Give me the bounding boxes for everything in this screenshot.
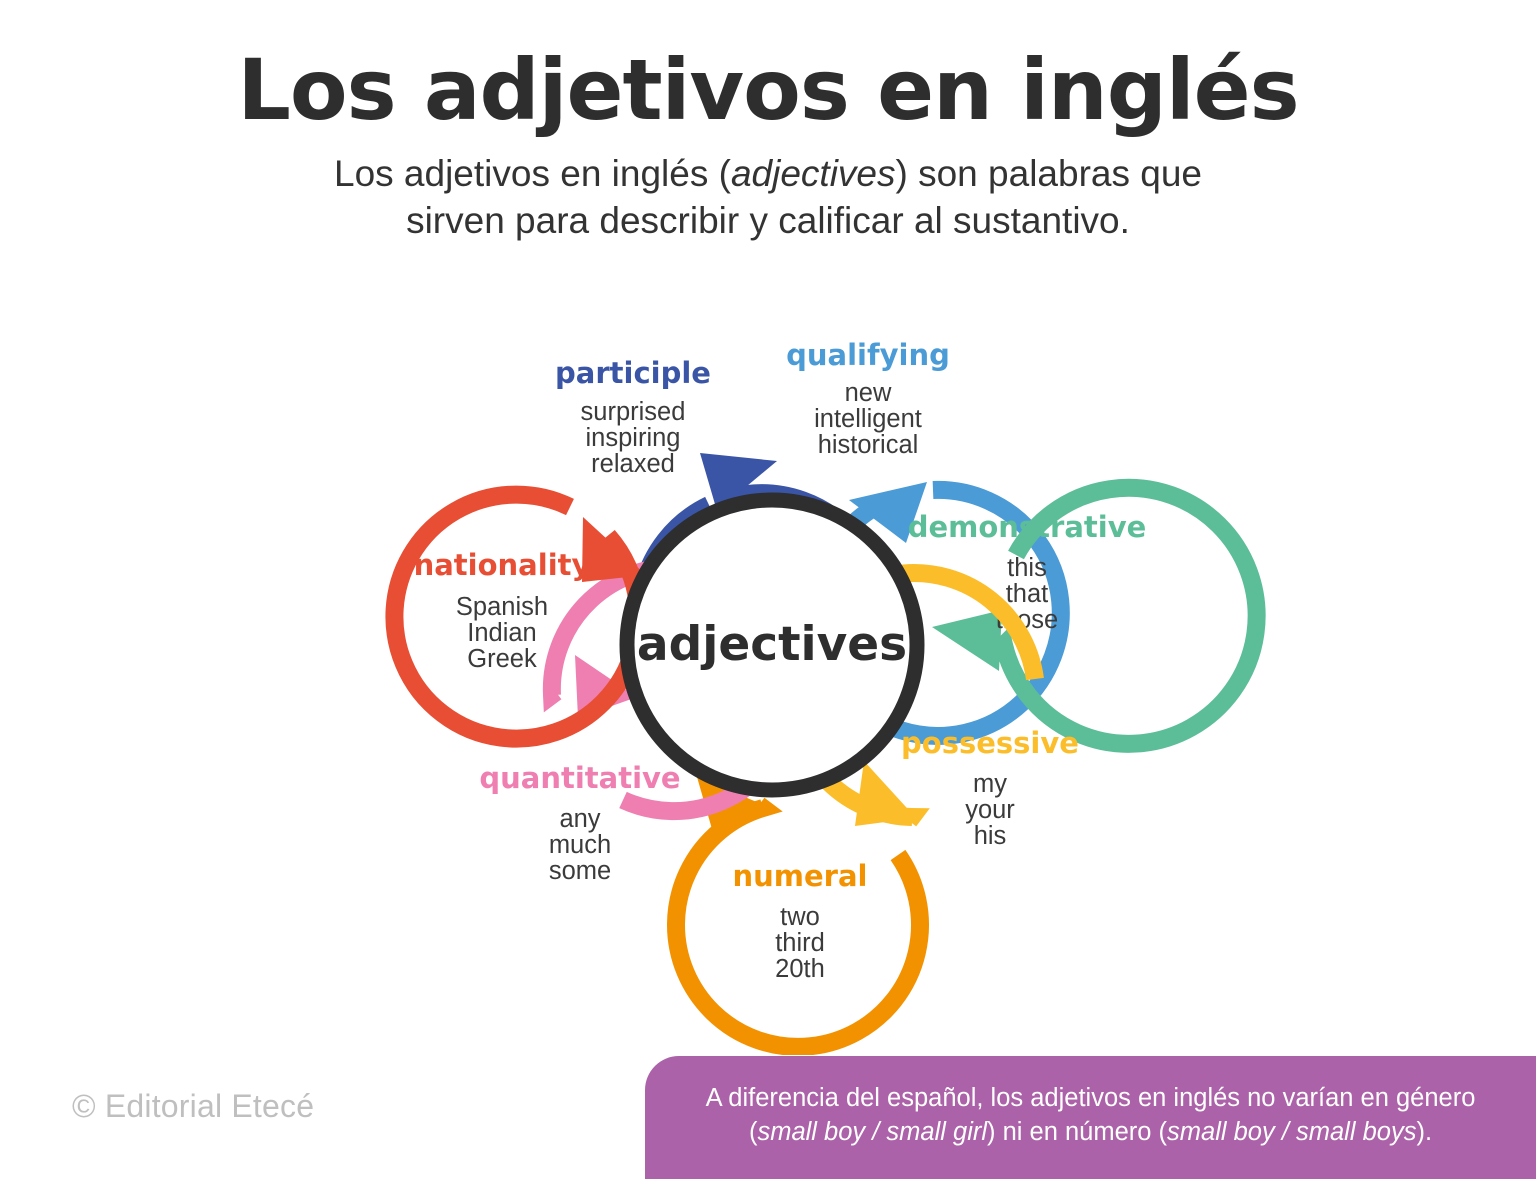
footer-line1-text: A diferencia del español, los adjetivos … — [706, 1084, 1476, 1112]
quantitative-example-2: much — [549, 831, 611, 859]
participle-example-3: relaxed — [591, 450, 675, 478]
footer-line2-middle: ) ni en número ( — [987, 1118, 1167, 1146]
numeral-example-2: third — [775, 929, 825, 957]
numeral-label: numeral — [733, 859, 868, 893]
subtitle-text-before: Los adjetivos en inglés ( — [334, 153, 731, 194]
quantitative-example-1: any — [559, 805, 600, 833]
subtitle-italic-term: adjectives — [731, 153, 896, 194]
nationality-example-3: Greek — [467, 645, 537, 673]
center-node[interactable]: adjectives — [627, 500, 917, 790]
nationality-arrowhead — [582, 517, 646, 582]
category-bubble-nationality[interactable]: nationality Spanish Indian Greek — [394, 495, 646, 739]
copyright-credit: © Editorial Etecé — [72, 1088, 314, 1125]
header: Los adjetivos en inglés Los adjetivos en… — [0, 0, 1536, 245]
footer-line2-close: ). — [1416, 1118, 1432, 1146]
adjectives-diagram: participle surprised inspiring relaxed q… — [0, 255, 1536, 1055]
center-label: adjectives — [637, 617, 907, 672]
qualifying-example-3: historical — [818, 431, 919, 459]
possessive-arrowhead — [855, 761, 916, 826]
qualifying-example-2: intelligent — [814, 405, 922, 433]
participle-label: participle — [555, 356, 711, 390]
numeral-example-3: 20th — [775, 955, 825, 983]
possessive-label: possessive — [901, 726, 1079, 760]
nationality-label: nationality — [414, 548, 591, 582]
participle-example-2: inspiring — [586, 424, 681, 452]
possessive-example-2: your — [965, 796, 1015, 824]
page-title: Los adjetivos en inglés — [0, 0, 1536, 132]
footer-note-line-2: (small boy / small girl) ni en número (s… — [675, 1116, 1506, 1150]
qualifying-label: qualifying — [786, 338, 950, 372]
footer-note-line-1: A diferencia del español, los adjetivos … — [675, 1082, 1506, 1116]
footer-line2-italic-2: small boy / small boys — [1167, 1118, 1416, 1146]
category-bubble-demonstrative[interactable]: demonstrative this that those — [908, 488, 1257, 744]
possessive-example-3: his — [974, 822, 1007, 850]
possessive-example-1: my — [973, 770, 1007, 798]
footer-line2-italic-1: small boy / small girl — [757, 1118, 987, 1146]
quantitative-label: quantitative — [479, 761, 680, 795]
qualifying-example-1: new — [845, 379, 892, 407]
nationality-example-1: Spanish — [456, 593, 548, 621]
numeral-example-1: two — [780, 903, 820, 931]
footer-note-banner: A diferencia del español, los adjetivos … — [645, 1056, 1536, 1179]
participle-example-1: surprised — [581, 398, 686, 426]
page-subtitle: Los adjetivos en inglés (adjectives) son… — [318, 150, 1218, 245]
demonstrative-example-2: that — [1006, 580, 1049, 608]
demonstrative-label: demonstrative — [908, 510, 1147, 544]
quantitative-example-3: some — [549, 857, 611, 885]
nationality-example-2: Indian — [467, 619, 536, 647]
demonstrative-example-1: this — [1007, 554, 1047, 582]
demonstrative-arrowhead — [932, 610, 1002, 671]
